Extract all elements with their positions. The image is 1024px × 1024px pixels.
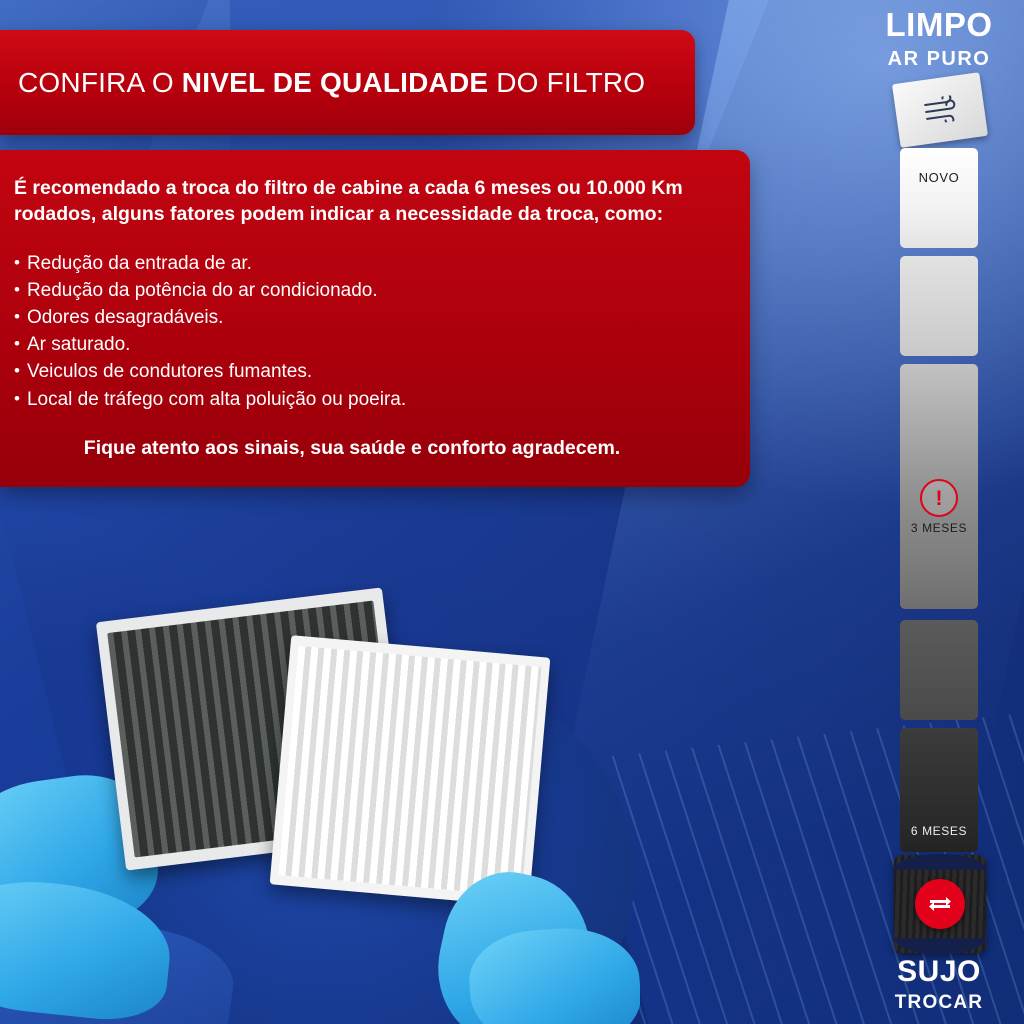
- bullet-icon: •: [14, 358, 20, 384]
- title-part-1: CONFIRA O: [18, 67, 182, 98]
- title-emphasis: NIVEL DE QUALIDADE: [182, 67, 488, 98]
- gauge-tick-novo: NOVO: [854, 170, 1024, 185]
- list-item: •Odores desagradáveis.: [14, 304, 720, 331]
- gauge-segment-2: [900, 256, 978, 356]
- warning-icon: !: [920, 479, 958, 517]
- list-item-label: Local de tráfego com alta poluição ou po…: [27, 386, 406, 413]
- list-item-label: Redução da entrada de ar.: [27, 250, 252, 277]
- dirty-filter-chip: [894, 855, 986, 953]
- header-banner: CONFIRA O NIVEL DE QUALIDADE DO FILTRO: [0, 30, 695, 135]
- gauge-bottom-label: SUJO: [854, 955, 1024, 989]
- gauge-top-sublabel: AR PURO: [854, 48, 1024, 71]
- clean-cabin-filter: [270, 635, 551, 907]
- list-item-label: Odores desagradáveis.: [27, 304, 223, 331]
- list-item: •Ar saturado.: [14, 331, 720, 358]
- gauge-segment-4: [900, 620, 978, 720]
- info-panel: É recomendado a troca do filtro de cabin…: [0, 150, 750, 487]
- list-item-label: Ar saturado.: [27, 331, 131, 358]
- list-item: •Redução da entrada de ar.: [14, 250, 720, 277]
- list-item: •Veiculos de condutores fumantes.: [14, 358, 720, 385]
- list-item: •Local de tráfego com alta poluição ou p…: [14, 386, 720, 413]
- symptoms-list: •Redução da entrada de ar. •Redução da p…: [14, 250, 720, 413]
- gauge-tick-3-meses: 3 MESES: [854, 521, 1024, 535]
- quality-gauge: LIMPO AR PURO NOVO ! 3 MESES 6 MESES: [854, 0, 1024, 1024]
- replace-arrows-icon: [925, 889, 955, 919]
- bullet-icon: •: [14, 331, 20, 357]
- filter-comparison-photo: [0, 584, 640, 1024]
- gauge-segment-new: [900, 148, 978, 248]
- bullet-icon: •: [14, 277, 20, 303]
- gauge-tick-6-meses: 6 MESES: [854, 824, 1024, 838]
- poster-canvas: CONFIRA O NIVEL DE QUALIDADE DO FILTRO É…: [0, 0, 1024, 1024]
- list-item: •Redução da potência do ar condicionado.: [14, 277, 720, 304]
- filter-pleats: [278, 646, 541, 896]
- intro-text: É recomendado a troca do filtro de cabin…: [14, 176, 720, 228]
- list-item-label: Redução da potência do ar condicionado.: [27, 277, 378, 304]
- list-item-label: Veiculos de condutores fumantes.: [27, 358, 312, 385]
- gauge-bottom-sublabel: TROCAR: [854, 992, 1024, 1014]
- clean-filter-chip: [892, 72, 988, 148]
- replace-badge: [915, 879, 965, 929]
- closing-text: Fique atento aos sinais, sua saúde e con…: [14, 437, 720, 460]
- gauge-top-label: LIMPO: [854, 6, 1024, 44]
- title-part-2: DO FILTRO: [488, 67, 645, 98]
- bullet-icon: •: [14, 386, 20, 412]
- bullet-icon: •: [14, 304, 20, 330]
- bullet-icon: •: [14, 250, 20, 276]
- airflow-swirl-icon: [920, 95, 959, 126]
- page-title: CONFIRA O NIVEL DE QUALIDADE DO FILTRO: [0, 67, 645, 99]
